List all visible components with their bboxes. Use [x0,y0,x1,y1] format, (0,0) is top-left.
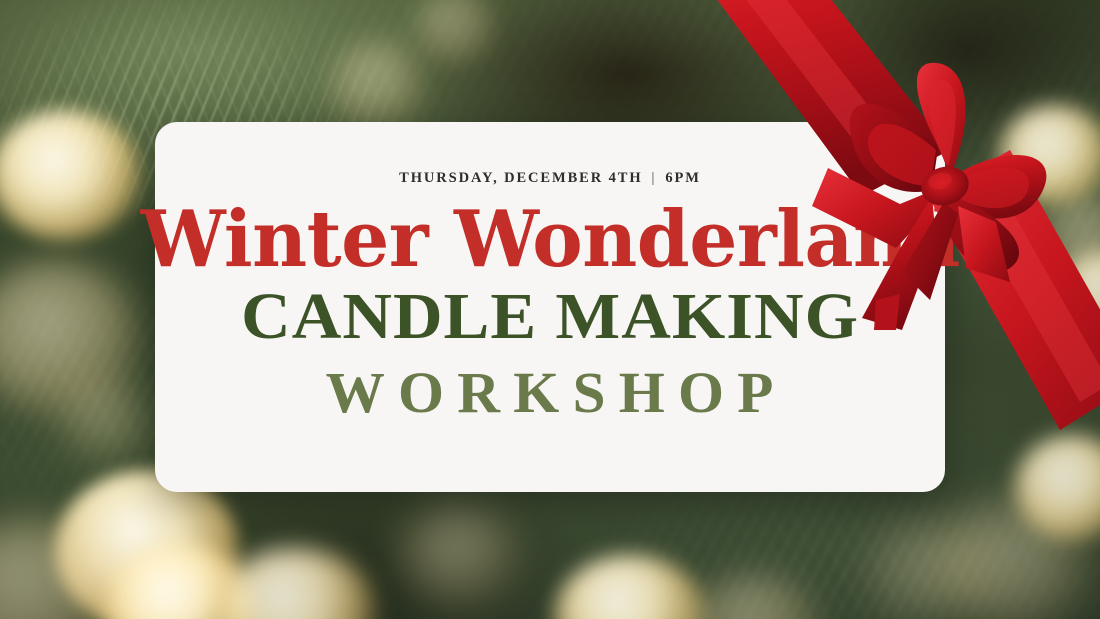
event-date: THURSDAY, DECEMBER 4TH [399,170,642,186]
event-date-time: THURSDAY, DECEMBER 4TH|6PM [399,170,701,187]
headline-workshop: WORKSHOP [313,364,787,422]
event-time: 6PM [665,170,701,186]
eyebrow-separator: | [643,170,666,187]
headline-candle-making: CANDLE MAKING [241,284,859,350]
content-card: THURSDAY, DECEMBER 4TH|6PM Winter Wonder… [155,122,945,492]
headline-script: Winter Wonderland [140,203,959,278]
promo-poster: THURSDAY, DECEMBER 4TH|6PM Winter Wonder… [0,0,1100,619]
